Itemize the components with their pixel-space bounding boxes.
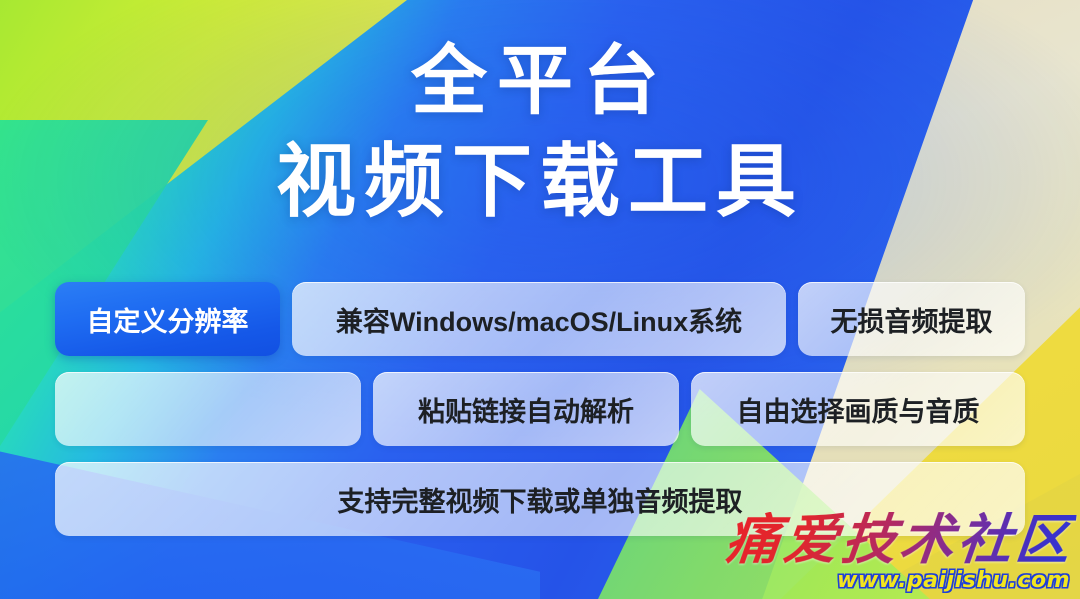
feature-tag-full-video-or-audio[interactable]: 支持完整视频下载或单独音频提取: [55, 462, 1025, 536]
headline-line-1: 全平台: [0, 44, 1080, 120]
feature-tag-os-compatibility[interactable]: 兼容Windows/macOS/Linux系统: [292, 282, 786, 356]
watermark-url-text: www.paijishu.com: [837, 568, 1070, 593]
feature-tag-quality-choice[interactable]: 自由选择画质与音质: [691, 372, 1025, 446]
feature-tag-lossless-audio[interactable]: 无损音频提取: [798, 282, 1025, 356]
promo-banner: 全平台 视频下载工具 自定义分辨率 兼容Windows/macOS/Linux系…: [0, 0, 1080, 599]
banner-content: 全平台 视频下载工具 自定义分辨率 兼容Windows/macOS/Linux系…: [0, 0, 1080, 599]
feature-tag-row-2: 粘贴链接自动解析 自由选择画质与音质: [55, 372, 1025, 446]
headline-line-2: 视频下载工具: [0, 142, 1080, 222]
feature-tag-row-1: 自定义分辨率 兼容Windows/macOS/Linux系统 无损音频提取: [55, 282, 1025, 356]
feature-tag-list: 自定义分辨率 兼容Windows/macOS/Linux系统 无损音频提取 粘贴…: [55, 282, 1025, 552]
feature-tag-custom-resolution[interactable]: 自定义分辨率: [55, 282, 280, 356]
feature-tag-blank[interactable]: [55, 372, 361, 446]
headline: 全平台 视频下载工具: [0, 44, 1080, 222]
feature-tag-row-3: 支持完整视频下载或单独音频提取: [55, 462, 1025, 536]
feature-tag-paste-link-parse[interactable]: 粘贴链接自动解析: [373, 372, 679, 446]
